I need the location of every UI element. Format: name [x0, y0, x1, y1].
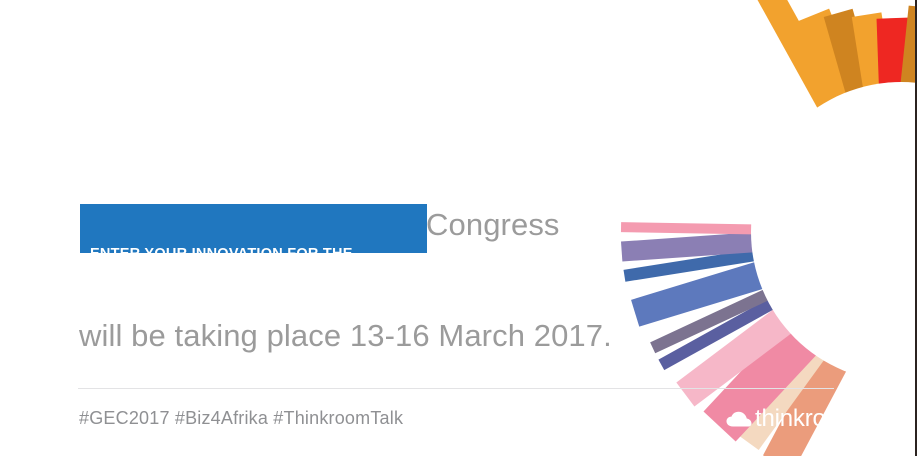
footer-divider: [78, 388, 834, 389]
cta-label: ENTER YOUR INNOVATION FOR THE DIGITAL PI…: [90, 211, 355, 351]
cloud-icon: [726, 411, 752, 428]
banner-content: Global Entrepreneurship Congress will be…: [0, 0, 917, 456]
brand-name-label: thinkroom: [755, 407, 859, 431]
thinkroom-logo[interactable]: thinkroom: [726, 404, 859, 434]
digital-pitch-cta-button[interactable]: ENTER YOUR INNOVATION FOR THE DIGITAL PI…: [80, 204, 427, 253]
hashtag-list: #GEC2017 #Biz4Afrika #ThinkroomTalk: [79, 408, 403, 429]
cta-line-2: DIGITAL PITCH COMPETITION HERE.: [90, 299, 355, 317]
cta-line-1: ENTER YOUR INNOVATION FOR THE: [90, 246, 355, 264]
promo-banner: Global Entrepreneurship Congress will be…: [0, 0, 917, 456]
